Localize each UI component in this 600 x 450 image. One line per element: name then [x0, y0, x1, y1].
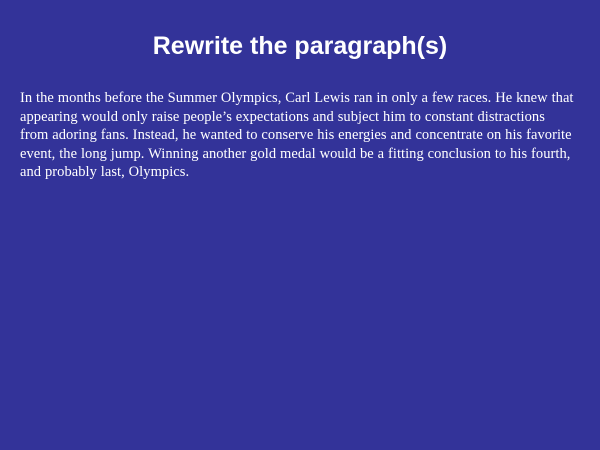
slide-body-content: In the months before the Summer Olympics… — [20, 89, 576, 182]
slide-title: Rewrite the paragraph(s) — [0, 31, 600, 61]
body-paragraph: In the months before the Summer Olympics… — [20, 89, 576, 182]
presentation-slide: Rewrite the paragraph(s) In the months b… — [0, 0, 600, 450]
